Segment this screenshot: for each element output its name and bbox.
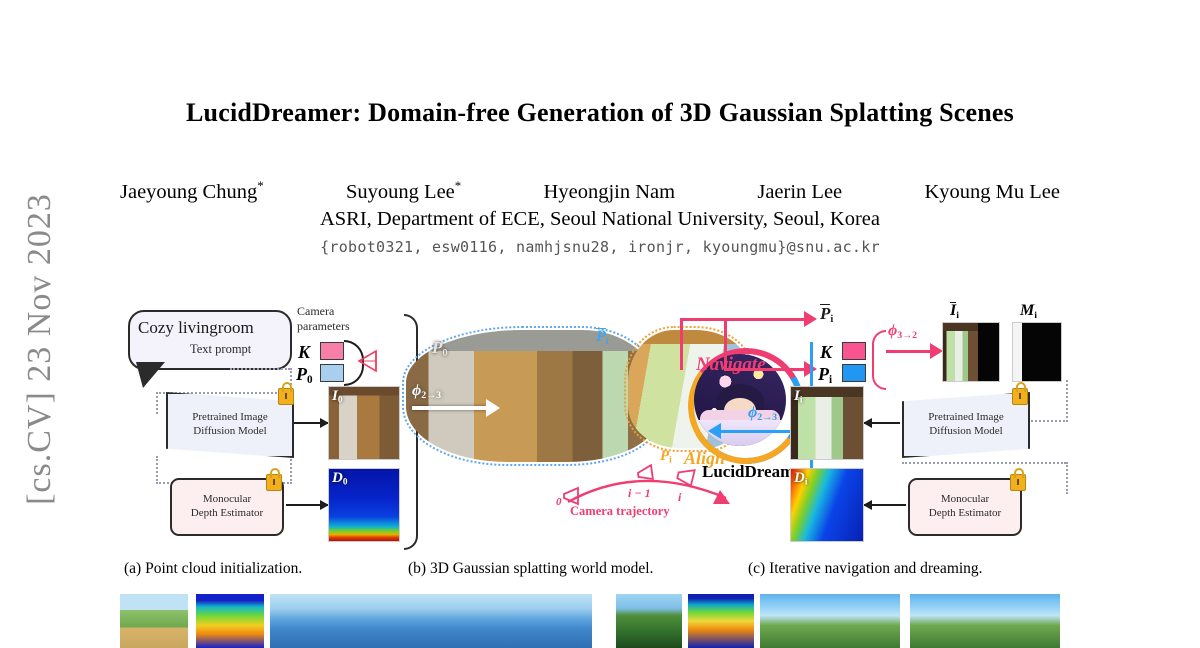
panel-c-iterative-nav-dream: K Pi ϕ3→2 Ii Mi Pretraine <box>816 296 1060 564</box>
strip-thumb-forest-depth <box>688 594 754 648</box>
arrow-depth-to-depthmap-c <box>864 504 906 506</box>
paper-page: [cs.CV] 23 Nov 2023 LucidDreamer: Domain… <box>0 0 1200 648</box>
diffusion-line-2-c: Diffusion Model <box>929 425 1002 439</box>
pink-route-branch <box>724 318 727 370</box>
dotted-depth-down <box>1066 462 1068 494</box>
author-2: Suyoung Lee* <box>346 178 461 204</box>
phi-right-arrow-line <box>886 350 934 353</box>
diffusion-line-1-c: Pretrained Image <box>928 411 1003 425</box>
author-3: Hyeongjin Nam <box>544 181 676 204</box>
arrow-diffusion-to-image-c <box>864 422 900 424</box>
monocular-depth-estimator-c[interactable]: Monocular Depth Estimator <box>908 478 1022 536</box>
thumbnail-image-i: Ii <box>790 386 864 460</box>
thumbnail-masked-image <box>942 322 1000 382</box>
strip-thumb-island-panorama-1 <box>760 594 900 648</box>
blue-route-arrow <box>708 423 721 439</box>
depth-line-1-c: Monocular <box>941 493 989 507</box>
caption-c: (c) Iterative navigation and dreaming. <box>748 560 983 578</box>
page-title: LucidDreamer: Domain-free Generation of … <box>0 98 1200 128</box>
arxiv-identifier-stamp: [cs.CV] 23 Nov 2023 <box>21 184 59 514</box>
inpaint-tag-label: Ii <box>950 302 959 321</box>
pretrained-image-diffusion-model-c[interactable]: Pretrained Image Diffusion Model <box>902 392 1030 458</box>
strip-thumb-tree-rgb <box>120 594 188 648</box>
image-tag-c: Ii <box>794 388 802 406</box>
k-label-right: K <box>820 342 832 363</box>
pink-bracket-right <box>872 330 886 390</box>
p-swatch-right <box>842 364 866 382</box>
author-4: Jaerin Lee <box>757 181 842 204</box>
result-thumbnail-strip <box>120 594 1060 648</box>
phi-dream-label: ϕ2→3 <box>748 404 777 423</box>
image-tag-a: I0 <box>332 388 343 406</box>
lock-icon-depth-c <box>1010 474 1026 491</box>
affiliation: ASRI, Department of ECE, Seoul National … <box>0 208 1200 231</box>
caption-b: (b) 3D Gaussian splatting world model. <box>408 560 653 578</box>
author-list: Jaeyoung Chung* Suyoung Lee* Hyeongjin N… <box>120 178 1060 204</box>
depth-tag-c: Di <box>794 470 807 488</box>
mask-tag-label: Mi <box>1020 302 1037 321</box>
p-label-right: Pi <box>818 364 832 386</box>
phi-right-label: ϕ3→2 <box>888 322 917 341</box>
author-2-mark: * <box>455 178 462 193</box>
pink-route-mid <box>724 368 808 371</box>
author-1-mark: * <box>257 178 264 193</box>
thumbnail-depth-i: Di <box>790 468 864 542</box>
thumbnail-mask <box>1012 322 1062 382</box>
strip-thumb-lake-panorama <box>270 594 592 648</box>
depth-tag-a: D0 <box>332 470 348 488</box>
dotted-mask-down <box>1066 380 1068 422</box>
depth-line-2-c: Depth Estimator <box>929 507 1001 521</box>
lock-icon-diffusion-c <box>1012 388 1028 405</box>
dotted-diffusion-to-depth <box>902 462 1066 464</box>
pink-route-up <box>680 318 683 370</box>
strip-thumb-forest-rgb <box>616 594 682 648</box>
k-swatch-right <box>842 342 866 360</box>
pink-route-top <box>680 318 808 321</box>
author-1: Jaeyoung Chung* <box>120 178 264 204</box>
caption-a: (a) Point cloud initialization. <box>124 560 302 578</box>
teaser-figure: Cozy livingroom Text prompt Cameraparame… <box>120 296 1060 566</box>
strip-thumb-tree-depth <box>196 594 264 648</box>
strip-thumb-island-panorama-2 <box>910 594 1060 648</box>
author-5: Kyoung Mu Lee <box>924 181 1060 204</box>
author-emails: {robot0321, esw0116, namhjsnu28, ironjr,… <box>0 238 1200 256</box>
figure-subcaptions: (a) Point cloud initialization. (b) 3D G… <box>120 560 1060 586</box>
